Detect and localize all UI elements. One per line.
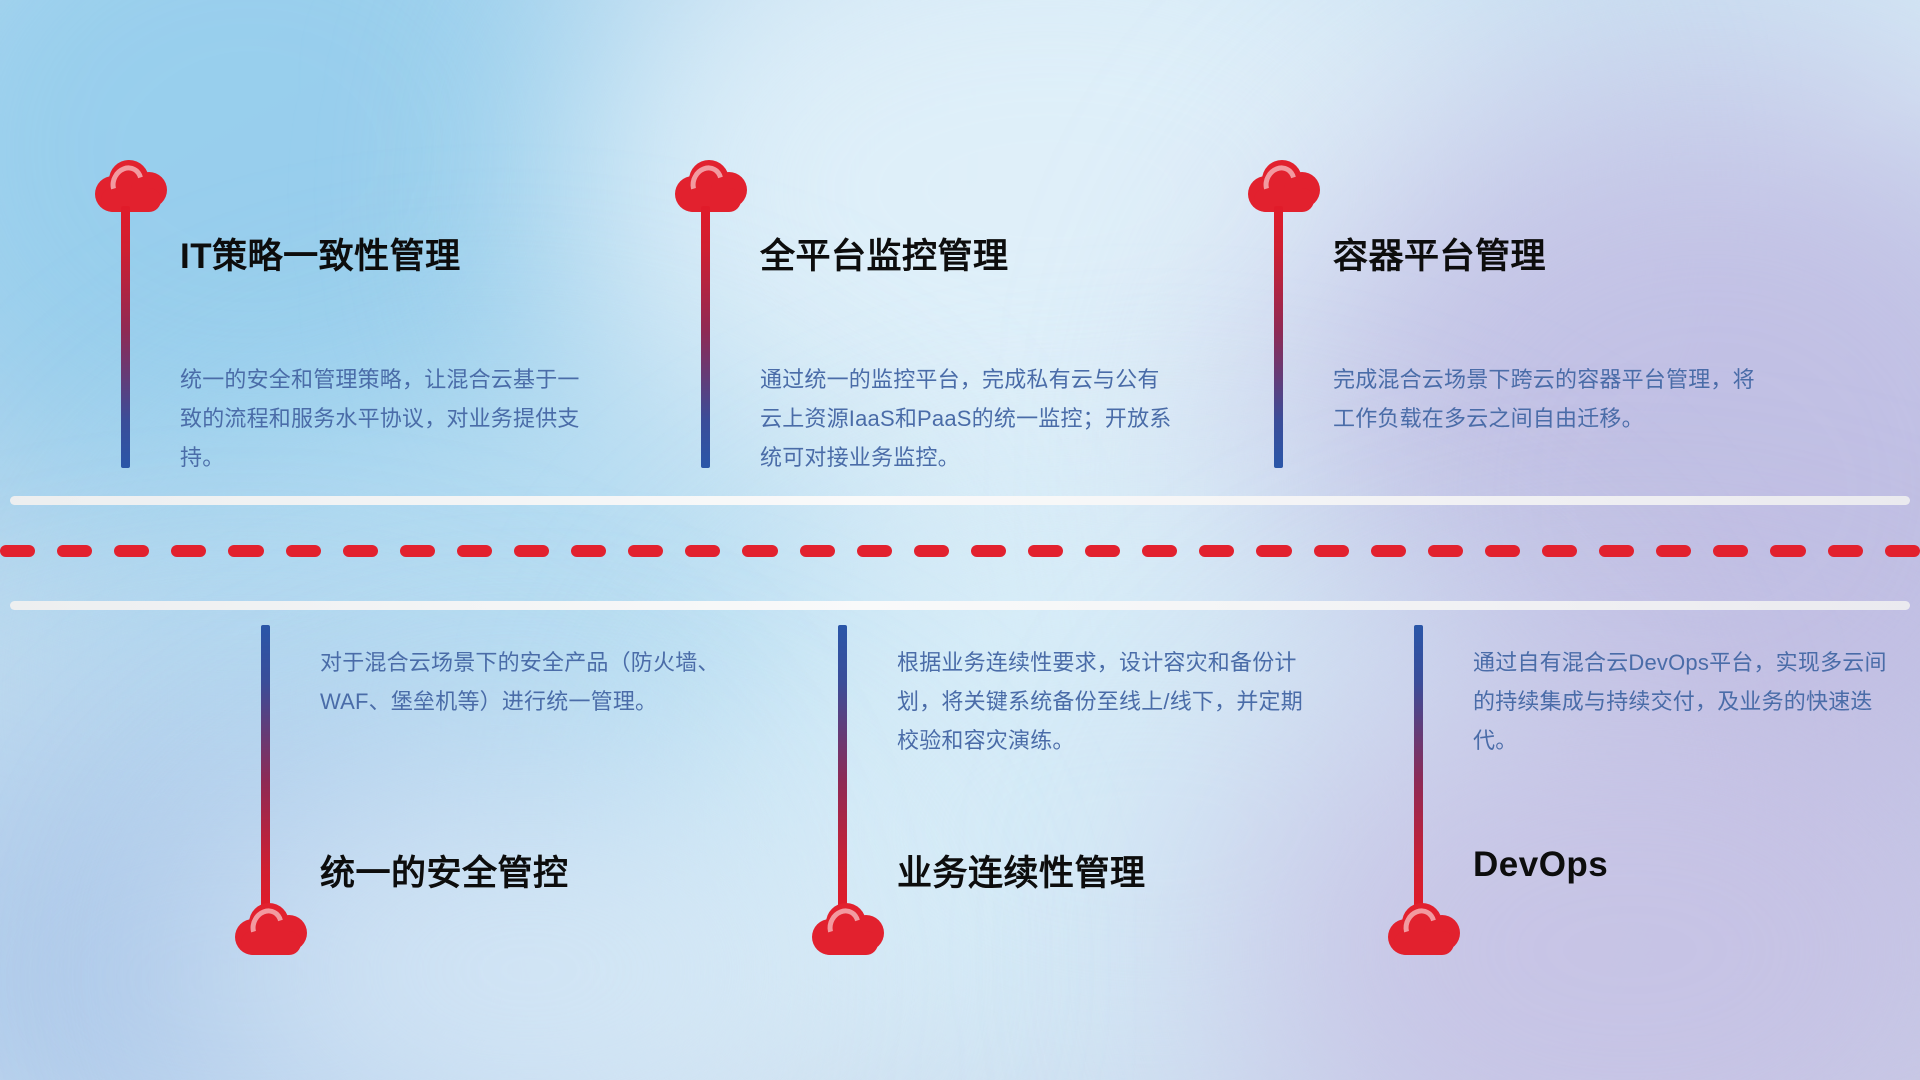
card-title: 容器平台管理 xyxy=(1333,228,1546,279)
divider-dash xyxy=(628,545,663,557)
column-stem xyxy=(121,206,130,468)
divider-dash xyxy=(1656,545,1691,557)
infographic-canvas: IT策略一致性管理 统一的安全和管理策略，让混合云基于一致的流程和服务水平协议，… xyxy=(0,0,1920,1080)
divider-dash xyxy=(57,545,92,557)
column-stem xyxy=(261,625,270,910)
cloud-icon xyxy=(95,160,167,212)
divider-dash xyxy=(1199,545,1234,557)
card-body: 通过统一的监控平台，完成私有云与公有云上资源IaaS和PaaS的统一监控；开放系… xyxy=(760,360,1178,477)
divider-dash xyxy=(400,545,435,557)
divider-dash xyxy=(1428,545,1463,557)
divider-dash xyxy=(857,545,892,557)
divider-dash xyxy=(571,545,606,557)
card-body: 对于混合云场景下的安全产品（防火墙、WAF、堡垒机等）进行统一管理。 xyxy=(320,643,740,721)
card-title: 业务连续性管理 xyxy=(897,845,1146,896)
card-body: 完成混合云场景下跨云的容器平台管理，将工作负载在多云之间自由迁移。 xyxy=(1333,360,1763,438)
card-title: IT策略一致性管理 xyxy=(180,228,461,279)
divider-dash xyxy=(800,545,835,557)
divider-dash xyxy=(971,545,1006,557)
divider-dash xyxy=(286,545,321,557)
divider-dash xyxy=(1314,545,1349,557)
divider-line-lower xyxy=(10,601,1910,610)
divider-dash xyxy=(1085,545,1120,557)
divider-dash xyxy=(1371,545,1406,557)
cloud-icon xyxy=(1388,903,1460,955)
divider-dash xyxy=(685,545,720,557)
divider-dash xyxy=(171,545,206,557)
divider-dash xyxy=(914,545,949,557)
divider-dash xyxy=(1770,545,1805,557)
column-stem xyxy=(1414,625,1423,910)
divider-dash xyxy=(1713,545,1748,557)
divider-dash xyxy=(1028,545,1063,557)
cloud-icon xyxy=(812,903,884,955)
divider-dash xyxy=(1599,545,1634,557)
column-stem xyxy=(1274,206,1283,468)
cloud-icon xyxy=(1248,160,1320,212)
divider-dash xyxy=(457,545,492,557)
divider-dash xyxy=(1542,545,1577,557)
column-stem xyxy=(701,206,710,468)
divider-dash xyxy=(343,545,378,557)
divider-dash xyxy=(514,545,549,557)
divider-dash xyxy=(1828,545,1863,557)
divider-dash xyxy=(0,545,35,557)
card-title: DevOps xyxy=(1473,845,1608,885)
card-body: 根据业务连续性要求，设计容灾和备份计划，将关键系统备份至线上/线下，并定期校验和… xyxy=(897,643,1317,760)
divider-dash xyxy=(114,545,149,557)
divider-dash xyxy=(1256,545,1291,557)
cloud-icon xyxy=(675,160,747,212)
divider-dashed-line xyxy=(0,545,1920,557)
cloud-icon xyxy=(235,903,307,955)
divider-dash xyxy=(742,545,777,557)
divider-dash xyxy=(1142,545,1177,557)
card-title: 统一的安全管控 xyxy=(320,845,569,896)
divider-dash xyxy=(1485,545,1520,557)
divider-dash xyxy=(228,545,263,557)
card-body: 通过自有混合云DevOps平台，实现多云间的持续集成与持续交付，及业务的快速迭代… xyxy=(1473,643,1893,760)
column-stem xyxy=(838,625,847,910)
card-body: 统一的安全和管理策略，让混合云基于一致的流程和服务水平协议，对业务提供支持。 xyxy=(180,360,600,477)
card-title: 全平台监控管理 xyxy=(760,228,1009,279)
divider-dash xyxy=(1885,545,1920,557)
divider-line-upper xyxy=(10,496,1910,505)
